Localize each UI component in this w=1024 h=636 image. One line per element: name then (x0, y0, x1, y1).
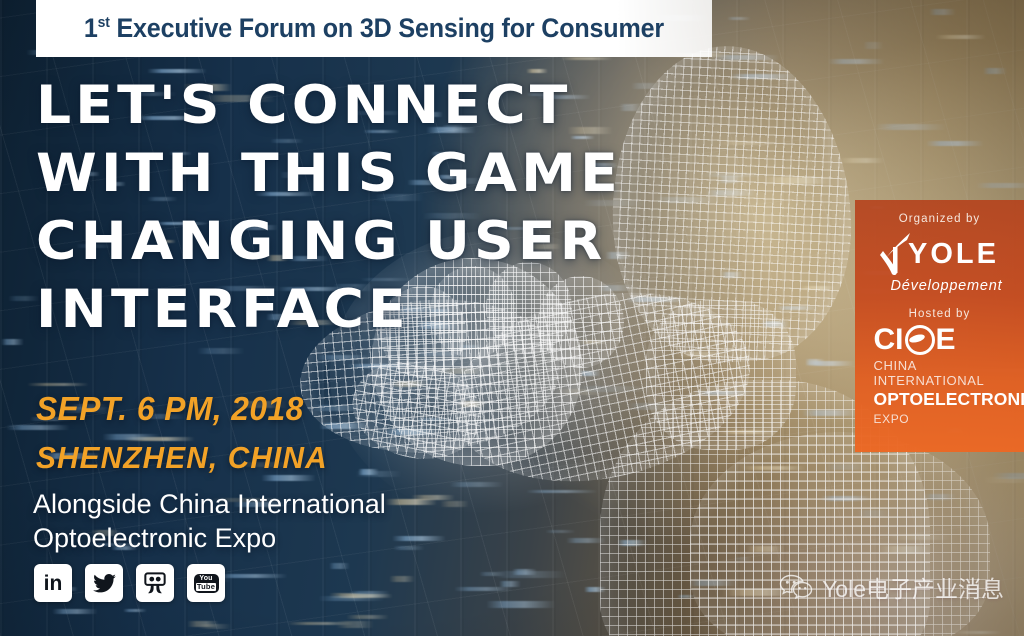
social-links: in You Tube (34, 564, 225, 602)
youtube-label-top: You (199, 575, 212, 582)
cioe-line-1: CHINA INTERNATIONAL (874, 358, 1006, 388)
cioe-line-2: OPTOELECTRONIC (874, 389, 1024, 410)
headline-line-3: CHANGING USER (36, 208, 681, 276)
title-rest: Executive Forum on 3D Sensing for Consum… (110, 13, 664, 43)
yole-logo[interactable]: YOLE Développement (877, 231, 1003, 294)
event-location: SHENZHEN, CHINA (36, 440, 328, 476)
youtube-icon[interactable]: You Tube (187, 564, 225, 602)
alongside-line-1: Alongside China International (33, 487, 386, 521)
yole-tagline: Développement (891, 278, 1003, 294)
youtube-label-bottom: Tube (196, 583, 216, 591)
wechat-icon (779, 574, 813, 600)
title-ordinal-suffix: st (98, 14, 110, 31)
header-bar: 1st Executive Forum on 3D Sensing for Co… (36, 0, 712, 57)
cioe-line-3: EXPO (874, 412, 910, 426)
organized-by-label: Organized by (899, 213, 981, 225)
twitter-icon[interactable] (85, 564, 123, 602)
event-date: SEPT. 6 PM, 2018 (36, 390, 304, 428)
yole-swoosh-icon (880, 231, 914, 277)
headline: LET'S CONNECT WITH THIS GAME CHANGING US… (36, 72, 656, 344)
youtube-mark: You Tube (194, 574, 219, 593)
sponsor-panel: Organized by YOLE Développement Hosted b… (855, 200, 1024, 452)
page-title: 1st Executive Forum on 3D Sensing for Co… (84, 13, 664, 44)
alongside-line-2: Optoelectronic Expo (33, 521, 386, 555)
watermark-text: Yole电子产业消息 (822, 570, 1004, 604)
headline-line-1: LET'S CONNECT (36, 72, 681, 140)
cioe-wordmark: CI E (874, 325, 956, 355)
event-alongside: Alongside China International Optoelectr… (33, 487, 386, 555)
wechat-watermark: Yole电子产业消息 (779, 570, 1004, 604)
headline-line-2: WITH THIS GAME (36, 140, 681, 208)
hosted-by-label: Hosted by (909, 308, 971, 320)
linkedin-label: in (44, 573, 63, 594)
yole-wordmark: YOLE (908, 240, 999, 269)
promo-banner: 1st Executive Forum on 3D Sensing for Co… (0, 0, 1024, 636)
headline-line-4: INTERFACE (36, 276, 681, 344)
title-ordinal: 1 (84, 13, 98, 43)
slideshare-icon[interactable] (136, 564, 174, 602)
cioe-eye-icon (905, 325, 935, 355)
yole-logo-row: YOLE (880, 231, 999, 277)
linkedin-icon[interactable]: in (34, 564, 72, 602)
cioe-logo[interactable]: CI E CHINA INTERNATIONAL OPTOELECTRONIC … (874, 325, 1006, 426)
cioe-mark-left: CI (874, 325, 904, 355)
cioe-mark-right: E (936, 325, 956, 355)
